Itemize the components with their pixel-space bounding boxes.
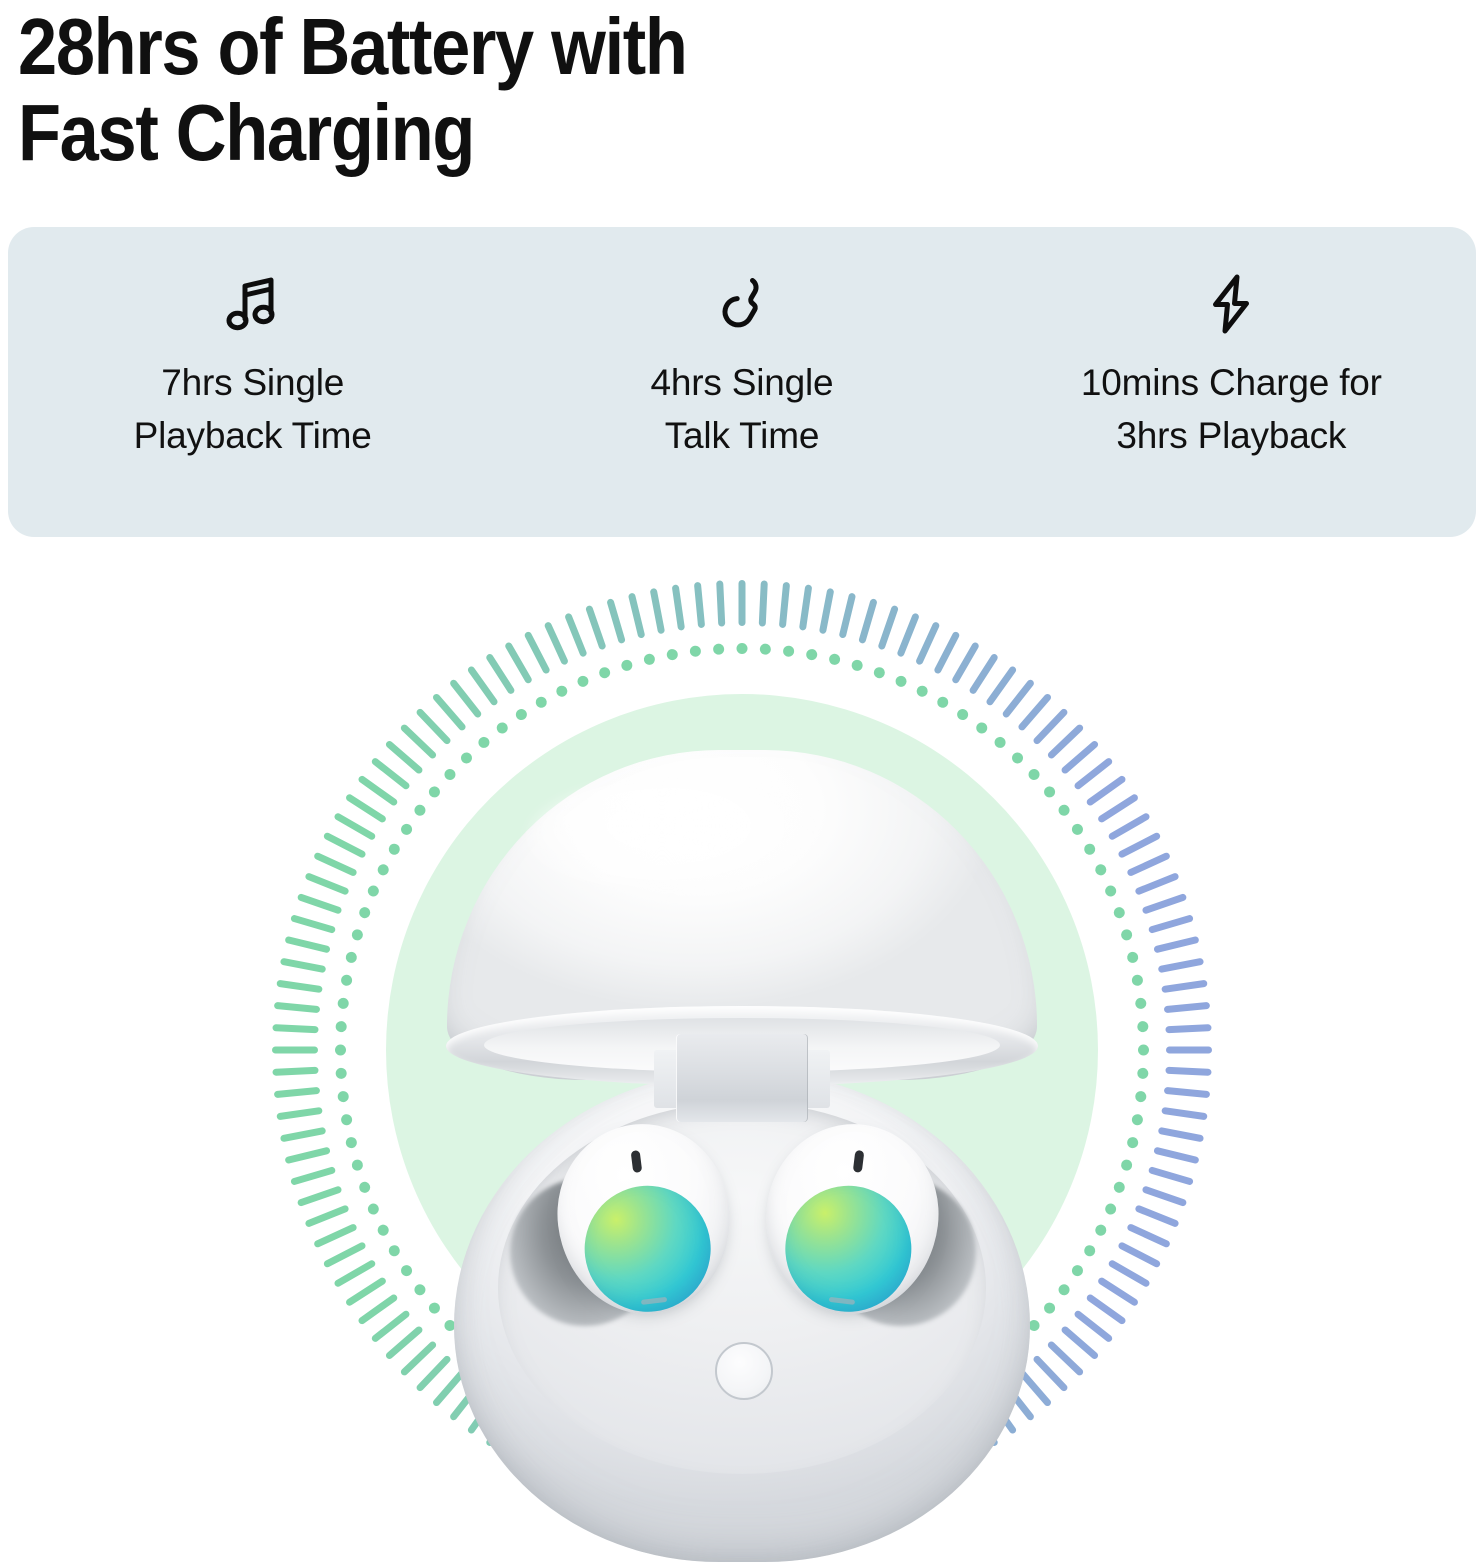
burst-dot (805, 648, 818, 661)
burst-dot (1131, 1113, 1144, 1126)
burst-dot (514, 707, 529, 722)
burst-ray (1164, 1087, 1210, 1098)
burst-ray (819, 588, 835, 634)
burst-ray (915, 621, 940, 666)
burst-ray (276, 1107, 323, 1120)
burst-ray (272, 1024, 318, 1033)
burst-ray (672, 584, 685, 631)
burst-ray (1126, 852, 1171, 877)
burst-dot (427, 1300, 442, 1315)
burst-dot (337, 997, 349, 1009)
burst-ray (284, 1147, 330, 1165)
burst-dot (689, 645, 701, 657)
burst-dot (340, 1113, 353, 1126)
burst-dot (850, 659, 864, 673)
hinge-tab-right (808, 1050, 830, 1108)
burst-ray (280, 1127, 326, 1143)
burst-dot (1082, 842, 1097, 857)
burst-ray (1165, 1067, 1211, 1076)
burst-dot (351, 1158, 365, 1172)
burst-ray (1134, 1204, 1179, 1228)
burst-dot (376, 862, 391, 877)
page-title: 28hrs of Battery with Fast Charging (18, 4, 1074, 177)
burst-dot (399, 822, 414, 837)
burst-ray (1153, 1147, 1199, 1165)
burst-dot (345, 1136, 358, 1149)
burst-ray (304, 1204, 349, 1228)
feature-item-label: 10mins Charge for 3hrs Playback (1081, 357, 1382, 462)
feature-item-talk-time: 4hrs Single Talk Time (497, 273, 986, 462)
burst-dot (1042, 784, 1057, 799)
burst-dot (1103, 1202, 1117, 1216)
burst-ray (284, 936, 330, 954)
microphone-hole-icon (853, 1150, 865, 1173)
burst-dot (598, 666, 612, 680)
burst-ray (1153, 936, 1199, 954)
burst-dot (1070, 822, 1085, 837)
burst-dot (1138, 1045, 1149, 1056)
burst-dot (1137, 1068, 1149, 1080)
burst-dot (554, 684, 569, 699)
burst-dot (1056, 803, 1071, 818)
burst-ray (1126, 1223, 1171, 1248)
burst-dot (643, 653, 656, 666)
burst-dot (476, 735, 491, 750)
burst-ray (297, 1185, 343, 1207)
burst-dot (992, 735, 1007, 750)
burst-ray (276, 980, 323, 993)
burst-ray (933, 631, 960, 675)
burst-ray (272, 1047, 318, 1054)
burst-ray (304, 872, 349, 896)
feature-highlights-panel: 7hrs Single Playback Time 4hrs Single Ta… (8, 227, 1476, 537)
burst-dot (358, 1180, 372, 1194)
burst-ray (313, 1223, 358, 1248)
burst-dot (495, 720, 510, 735)
burst-dot (666, 648, 679, 661)
burst-dot (783, 645, 795, 657)
burst-dot (576, 674, 590, 688)
burst-dot (1126, 951, 1139, 964)
burst-dot (1093, 1223, 1108, 1238)
case-hinge (676, 1034, 808, 1122)
burst-dot (387, 842, 402, 857)
burst-dot (828, 653, 841, 666)
burst-ray (799, 584, 812, 631)
burst-ray (877, 605, 899, 651)
burst-dot (1112, 1180, 1126, 1194)
burst-dot (335, 1021, 347, 1033)
burst-ray (1161, 1107, 1208, 1120)
burst-ray (1148, 914, 1194, 934)
burst-ray (1142, 893, 1188, 915)
burst-ray (290, 1166, 336, 1186)
burst-dot (955, 707, 970, 722)
burst-ray (1158, 958, 1204, 974)
burst-ray (323, 1241, 367, 1268)
burst-dot (358, 906, 372, 920)
burst-ray (274, 1087, 320, 1098)
burst-dot (760, 643, 772, 655)
feature-item-label: 7hrs Single Playback Time (134, 357, 372, 462)
feature-item-label: 4hrs Single Talk Time (651, 357, 834, 462)
burst-ray (1164, 1002, 1210, 1013)
burst-dot (387, 1243, 402, 1258)
lid-gloss-highlight (527, 778, 827, 898)
burst-ray (297, 893, 343, 915)
burst-dot (713, 643, 725, 655)
burst-ray (524, 631, 551, 675)
microphone-hole-icon (631, 1150, 643, 1173)
burst-dot (335, 1045, 346, 1056)
burst-dot (337, 1091, 349, 1103)
burst-dot (1010, 750, 1026, 766)
burst-ray (606, 598, 626, 644)
burst-ray (544, 621, 569, 666)
burst-dot (1120, 1158, 1134, 1172)
burst-ray (694, 582, 705, 628)
burst-dot (1126, 1136, 1139, 1149)
burst-ray (1107, 1259, 1150, 1288)
burst-dot (620, 659, 634, 673)
burst-dot (915, 684, 930, 699)
burst-ray (1134, 872, 1179, 896)
burst-dot (1135, 997, 1147, 1009)
burst-dot (894, 674, 908, 688)
burst-dot (1103, 884, 1117, 898)
burst-dot (1093, 862, 1108, 877)
burst-dot (442, 767, 458, 783)
burst-ray (1117, 832, 1161, 859)
burst-ray (839, 592, 857, 638)
burst-ray (274, 1002, 320, 1013)
burst-dot (1042, 1300, 1057, 1315)
burst-ray (290, 914, 336, 934)
burst-dot (935, 695, 950, 710)
burst-ray (1117, 1241, 1161, 1268)
burst-dot (335, 1068, 347, 1080)
burst-ray (585, 605, 607, 651)
burst-dot (376, 1223, 391, 1238)
burst-dot (412, 803, 427, 818)
burst-dot (399, 1263, 414, 1278)
burst-dot (1070, 1263, 1085, 1278)
product-hero-image (0, 545, 1484, 1500)
lightning-bolt-icon (1206, 273, 1256, 335)
burst-dot (351, 928, 365, 942)
burst-dot (1112, 906, 1126, 920)
burst-ray (504, 641, 533, 684)
burst-ray (716, 580, 725, 626)
burst-ray (1158, 1127, 1204, 1143)
burst-ray (896, 612, 920, 657)
burst-ray (1142, 1185, 1188, 1207)
hinge-tab-left (654, 1050, 676, 1108)
burst-dot (737, 643, 748, 654)
burst-ray (333, 812, 376, 841)
burst-dot (366, 1202, 380, 1216)
status-led-button[interactable] (715, 1342, 773, 1400)
burst-ray (280, 958, 326, 974)
burst-ray (1107, 812, 1150, 841)
music-note-icon (225, 273, 281, 335)
burst-dot (1135, 1091, 1147, 1103)
burst-dot (872, 666, 886, 680)
burst-dot (1131, 974, 1144, 987)
burst-dot (340, 974, 353, 987)
burst-ray (739, 580, 746, 626)
feature-item-fast-charge: 10mins Charge for 3hrs Playback (987, 273, 1476, 462)
burst-dot (1026, 767, 1042, 783)
burst-dot (534, 695, 549, 710)
burst-dot (1056, 1282, 1071, 1297)
phone-handset-icon (714, 273, 770, 335)
burst-ray (858, 598, 878, 644)
burst-ray (313, 852, 358, 877)
burst-dot (345, 951, 358, 964)
burst-ray (1148, 1166, 1194, 1186)
burst-ray (628, 592, 646, 638)
burst-dot (412, 1282, 427, 1297)
burst-ray (323, 832, 367, 859)
burst-ray (1165, 1024, 1211, 1033)
burst-ray (272, 1067, 318, 1076)
burst-ray (1161, 980, 1208, 993)
burst-dot (974, 720, 989, 735)
burst-dot (427, 784, 442, 799)
burst-dot (1120, 928, 1134, 942)
burst-ray (759, 580, 768, 626)
burst-ray (779, 582, 790, 628)
burst-dot (1082, 1243, 1097, 1258)
burst-ray (1166, 1047, 1212, 1054)
burst-dot (1137, 1021, 1149, 1033)
burst-dot (459, 750, 475, 766)
burst-dot (366, 884, 380, 898)
burst-ray (564, 612, 588, 657)
burst-ray (650, 588, 666, 634)
feature-item-playback-time: 7hrs Single Playback Time (8, 273, 497, 462)
